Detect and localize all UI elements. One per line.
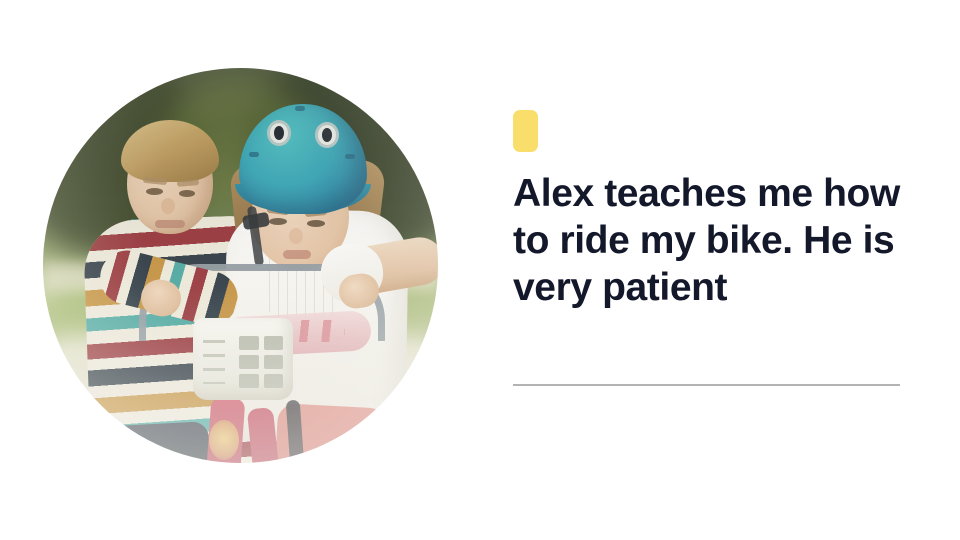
helmet-vent-left — [249, 152, 259, 157]
bicycle-frame-sticker — [209, 420, 239, 460]
boy-nose — [161, 198, 175, 214]
photo-background — [43, 68, 438, 463]
boy-eye-right — [179, 190, 195, 197]
helmet-frog-eye-right — [315, 122, 339, 148]
horizontal-divider — [513, 384, 900, 386]
helmet-vent-top — [295, 106, 305, 111]
boy-jeans — [96, 421, 214, 463]
girl-eye-right — [307, 220, 325, 227]
basket-front-grid — [239, 336, 283, 388]
girl-nose — [289, 228, 303, 244]
text-column: Alex teaches me how to ride my bike. He … — [513, 0, 913, 540]
circular-photo — [43, 68, 438, 463]
helmet-vent-right — [345, 154, 355, 159]
yellow-accent-bar — [513, 110, 538, 152]
girl-mouth — [283, 250, 311, 259]
helmet-frog-eye-left — [267, 120, 291, 146]
headline-text: Alex teaches me how to ride my bike. He … — [513, 170, 905, 311]
girl-eye-left — [269, 218, 287, 225]
basket-side-lines — [203, 340, 225, 384]
slide-canvas: Alex teaches me how to ride my bike. He … — [0, 0, 960, 540]
boy-mouth — [155, 220, 185, 228]
boy-eye-left — [146, 188, 163, 195]
